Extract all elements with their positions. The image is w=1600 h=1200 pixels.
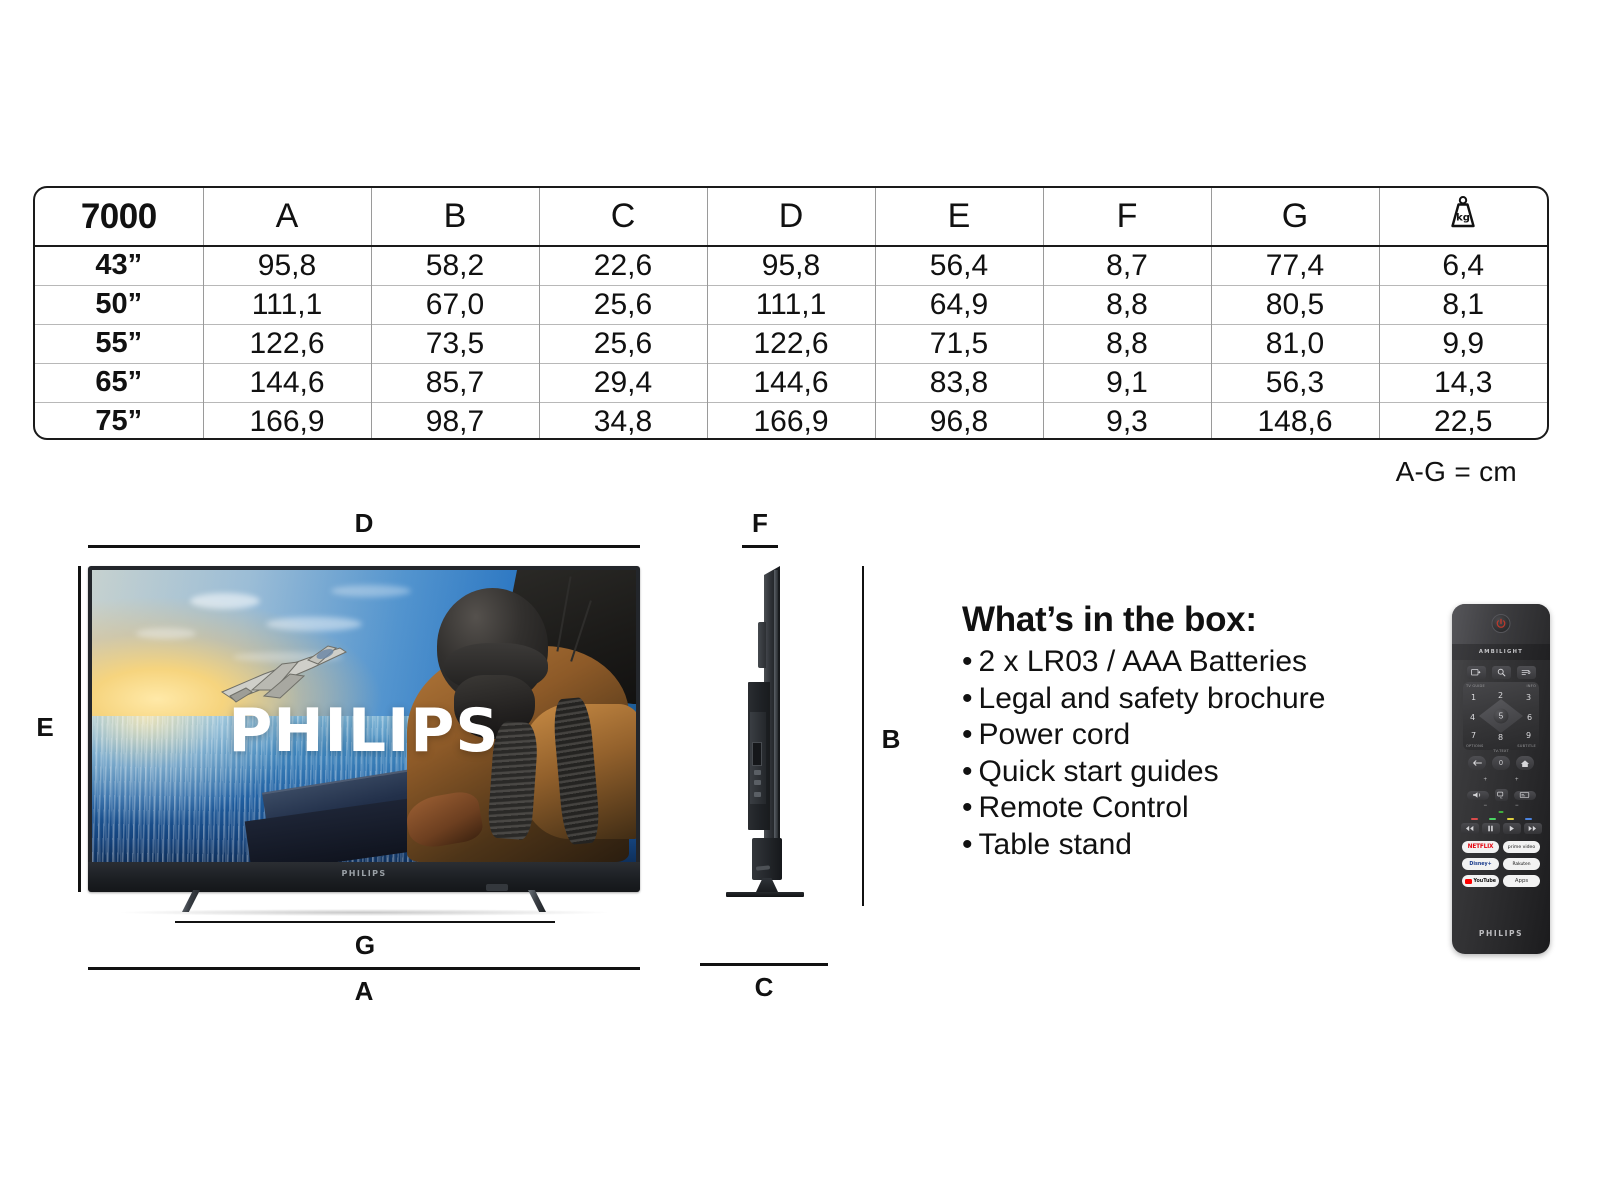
cell-50-kg: 8,1 [1379,285,1547,324]
column-header-d: D [707,188,875,246]
remote-media-row [1452,823,1550,834]
table-body: 43” 95,8 58,2 22,6 95,8 56,4 8,7 77,4 6,… [35,246,1547,440]
cell-43-a: 95,8 [203,246,371,285]
key-5-ok[interactable]: 5 [1494,709,1509,724]
channel-rocker[interactable] [1514,791,1536,800]
key-3[interactable]: 3 [1521,690,1536,705]
row-size-75: 75” [35,402,203,440]
blue-key-icon[interactable] [1525,818,1532,820]
remote-apps-row-3: YouTube Apps [1452,875,1550,887]
bullet-icon: • [962,828,973,861]
apps-button[interactable]: Apps [1503,875,1540,887]
row-size-50: 50” [35,285,203,324]
key-8[interactable]: 8 [1493,730,1508,745]
cell-55-kg: 9,9 [1379,324,1547,363]
list-item: •Table stand [962,827,1362,864]
status-led-icon [1499,811,1504,813]
box-contents-list: •2 x LR03 / AAA Batteries •Legal and saf… [962,644,1362,863]
cell-43-e: 56,4 [875,246,1043,285]
dimension-line-g [175,921,555,923]
datasheet-page: 7000 A B C D E F G kg [0,0,1600,1200]
list-item-label: Quick start guides [979,755,1219,788]
remote-rocker-row [1452,789,1550,801]
power-icon [1496,618,1507,629]
table-row: 43” 95,8 58,2 22,6 95,8 56,4 8,7 77,4 6,… [35,246,1547,285]
dimension-label-a: A [88,976,640,1007]
dimension-line-f [742,545,778,548]
cell-75-f: 9,3 [1043,402,1211,440]
pause-icon[interactable] [1482,823,1500,834]
usb-port-icon [754,780,761,785]
search-icon[interactable] [1492,666,1511,679]
volume-rocker[interactable] [1467,791,1489,800]
tv-chin-bar: PHILIPS [88,862,640,892]
channel-plus-label[interactable]: + [1515,777,1519,783]
cell-50-e: 64,9 [875,285,1043,324]
unit-note: A-G = cm [0,456,1517,488]
key-9[interactable]: 9 [1521,728,1536,743]
settings-icon[interactable] [1517,666,1536,679]
column-header-c: C [539,188,707,246]
dimension-line-b [862,566,864,906]
svg-text:kg: kg [1456,213,1470,224]
cell-50-d: 111,1 [707,285,875,324]
cell-55-f: 8,8 [1043,324,1211,363]
dimension-label-d: D [88,508,640,539]
list-item: •2 x LR03 / AAA Batteries [962,644,1362,681]
key-7[interactable]: 7 [1466,728,1481,743]
column-header-e: E [875,188,1043,246]
dimension-line-d [88,545,640,548]
cell-65-g: 56,3 [1211,363,1379,402]
remote-brand-label: PHILIPS [1452,929,1550,938]
cell-43-d: 95,8 [707,246,875,285]
model-header: 7000 [35,188,203,246]
table-row: 50” 111,1 67,0 25,6 111,1 64,9 8,8 80,5 … [35,285,1547,324]
channel-minus-label[interactable]: − [1515,803,1519,809]
usb-port-icon [754,770,761,775]
list-item-label: 2 x LR03 / AAA Batteries [979,645,1308,678]
cell-55-a: 122,6 [203,324,371,363]
hdmi-port-icon [752,742,762,766]
volume-plus-label[interactable]: + [1483,777,1487,783]
cell-65-a: 144,6 [203,363,371,402]
table-header: 7000 A B C D E F G kg [35,188,1547,246]
remote-keypad: TV GUIDE INFO OPTIONS SUBTITLE 1 2 3 4 6… [1463,682,1539,750]
weight-kg-icon: kg [1448,195,1478,238]
box-contents-section: What’s in the box: •2 x LR03 / AAA Batte… [962,600,1362,863]
tv-screen: PHILIPS [92,570,636,862]
column-header-f: F [1043,188,1211,246]
cell-75-e: 96,8 [875,402,1043,440]
netflix-button[interactable]: NETFLIX [1462,841,1499,853]
cell-55-d: 122,6 [707,324,875,363]
remote-nav-row: TV-TEXT 0 [1452,756,1550,770]
key-4[interactable]: 4 [1465,710,1480,725]
cell-50-b: 67,0 [371,285,539,324]
table-header-row: 7000 A B C D E F G kg [35,188,1547,246]
cell-65-b: 85,7 [371,363,539,402]
remote-apps-row-1: NETFLIX prime video [1452,841,1550,853]
list-item: •Legal and safety brochure [962,681,1362,718]
dimensions-table: 7000 A B C D E F G kg [33,186,1549,440]
cell-75-g: 148,6 [1211,402,1379,440]
power-button[interactable] [1492,614,1511,633]
tv-side-floor-line [726,892,804,897]
box-contents-title: What’s in the box: [962,600,1362,640]
tv-bezel-logo: PHILIPS [341,869,386,878]
cell-43-c: 22,6 [539,246,707,285]
column-header-a: A [203,188,371,246]
list-item: •Remote Control [962,790,1362,827]
ir-receiver-icon [486,884,508,891]
youtube-label: YouTube [1473,879,1496,884]
options-label: OPTIONS [1466,744,1483,748]
tv-guide-label: TV GUIDE [1466,684,1485,688]
dimension-label-f: F [742,508,778,539]
cell-75-d: 166,9 [707,402,875,440]
list-item-label: Table stand [979,828,1132,861]
table-row: 65” 144,6 85,7 29,4 144,6 83,8 9,1 56,3 … [35,363,1547,402]
home-icon[interactable] [1516,756,1534,770]
column-header-g: G [1211,188,1379,246]
cell-50-f: 8,8 [1043,285,1211,324]
cell-50-c: 25,6 [539,285,707,324]
row-size-65: 65” [35,363,203,402]
red-key-icon[interactable] [1471,818,1478,820]
cell-75-a: 166,9 [203,402,371,440]
cell-43-kg: 6,4 [1379,246,1547,285]
yellow-key-icon[interactable] [1507,818,1514,820]
spec-table: 7000 A B C D E F G kg [35,188,1547,440]
bullet-icon: • [962,791,973,824]
cell-65-c: 29,4 [539,363,707,402]
cell-55-g: 81,0 [1211,324,1379,363]
tv-side-view [730,566,798,906]
play-icon[interactable] [1503,823,1521,834]
cell-55-e: 71,5 [875,324,1043,363]
antenna-port-icon [754,792,761,797]
green-key-icon[interactable] [1489,818,1496,820]
prime-video-button[interactable]: prime video [1503,841,1540,853]
remote-plus-row: + + [1452,777,1550,783]
youtube-badge-icon [1465,879,1472,884]
tv-side-foot [756,878,778,892]
floor-shadow [121,909,607,916]
remote-function-row [1452,666,1550,679]
color-keys-row [1452,818,1550,820]
cell-43-g: 77,4 [1211,246,1379,285]
key-2[interactable]: 2 [1493,688,1508,703]
dimension-line-e [78,566,81,892]
bullet-icon: • [962,755,973,788]
disney-plus-button[interactable]: Disney+ [1462,858,1499,870]
tv-text-label: TV-TEXT [1493,749,1509,753]
dimension-label-g: G [175,930,555,961]
cell-75-kg: 22,5 [1379,402,1547,440]
list-item-label: Power cord [979,718,1131,751]
back-icon[interactable] [1468,756,1486,770]
tv-side-panel-edge [774,570,778,866]
cell-75-b: 98,7 [371,402,539,440]
cell-50-a: 111,1 [203,285,371,324]
dimension-label-e: E [28,712,62,743]
volume-minus-label[interactable]: − [1483,803,1487,809]
key-1[interactable]: 1 [1466,690,1481,705]
list-item-label: Remote Control [979,791,1189,824]
dimension-label-b: B [874,724,908,755]
tv-front-view: PHILIPS PHILIPS [88,566,640,892]
rakuten-button[interactable]: Rakuten [1503,858,1540,870]
cell-55-b: 73,5 [371,324,539,363]
remote-control: AMBILIGHT TV GUIDE INFO OPTIONS SUBTITLE… [1452,604,1550,954]
bullet-icon: • [962,718,973,751]
cell-43-f: 8,7 [1043,246,1211,285]
recording-icon[interactable] [1495,789,1508,801]
subtitle-label: SUBTITLE [1517,744,1536,748]
dimension-line-c [700,963,828,966]
column-header-weight: kg [1379,188,1547,246]
list-item: •Power cord [962,717,1362,754]
screen-brand-overlay: PHILIPS [92,701,636,761]
youtube-button[interactable]: YouTube [1462,875,1499,887]
dimension-label-c: C [700,972,828,1003]
cell-65-e: 83,8 [875,363,1043,402]
cell-75-c: 34,8 [539,402,707,440]
cell-65-f: 9,1 [1043,363,1211,402]
table-row: 55” 122,6 73,5 25,6 122,6 71,5 8,8 81,0 … [35,324,1547,363]
info-label: INFO [1527,684,1536,688]
key-6[interactable]: 6 [1522,710,1537,725]
list-item: •Quick start guides [962,754,1362,791]
tv-side-tab [758,622,766,668]
cell-65-kg: 14,3 [1379,363,1547,402]
cell-50-g: 80,5 [1211,285,1379,324]
tv-bezel: PHILIPS PHILIPS [88,566,640,892]
row-size-55: 55” [35,324,203,363]
source-icon[interactable] [1467,666,1486,679]
forward-icon[interactable] [1524,823,1542,834]
cell-65-d: 144,6 [707,363,875,402]
remote-apps-row-2: Disney+ Rakuten [1452,858,1550,870]
ambilight-label: AMBILIGHT [1452,644,1550,660]
column-header-b: B [371,188,539,246]
cell-55-c: 25,6 [539,324,707,363]
table-row: 75” 166,9 98,7 34,8 166,9 96,8 9,3 148,6… [35,402,1547,440]
bullet-icon: • [962,682,973,715]
bullet-icon: • [962,645,973,678]
key-0[interactable]: 0 [1492,756,1510,770]
row-size-43: 43” [35,246,203,285]
rewind-icon[interactable] [1461,823,1479,834]
remote-minus-row: − − [1452,803,1550,809]
cell-43-b: 58,2 [371,246,539,285]
dimension-line-a [88,967,640,970]
tv-base-housing [752,838,782,880]
list-item-label: Legal and safety brochure [979,682,1326,715]
